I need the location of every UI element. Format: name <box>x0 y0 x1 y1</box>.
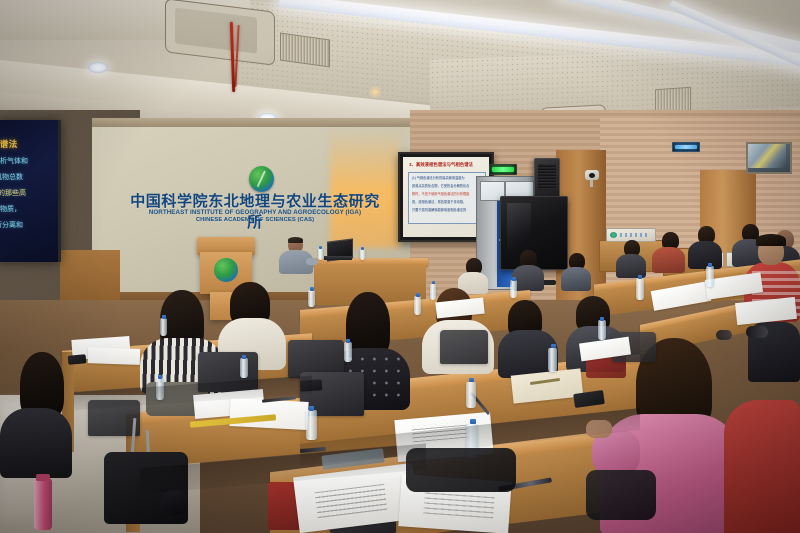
bottle-1[interactable] <box>160 318 167 336</box>
bottle-2[interactable] <box>240 358 248 378</box>
bottle-presenter[interactable] <box>318 248 323 260</box>
attendee-left-edge-body <box>0 408 72 478</box>
left-slide-title: 相色谱法 <box>0 138 18 150</box>
pink-water-bottle[interactable] <box>34 478 52 530</box>
attendee-pink-hoodie-glasses <box>716 330 732 340</box>
phone-1[interactable] <box>68 354 87 365</box>
wall-back-trim <box>92 118 422 127</box>
chair-5[interactable] <box>440 330 488 364</box>
left-projection-screen[interactable]: 相色谱法 于分析气体和 有机物总数 80%的那些高 大的物质， 进行分离和 <box>0 120 61 262</box>
institute-globe-logo <box>249 166 274 192</box>
paper-2[interactable] <box>88 347 141 365</box>
camera-mount <box>590 180 593 187</box>
attendee-body-far-5 <box>652 247 685 273</box>
attendee-right-glasses <box>746 326 768 338</box>
exit-sign-blue <box>672 142 700 152</box>
presenter-hair <box>288 237 303 243</box>
bottle-6[interactable] <box>466 382 476 408</box>
lecture-hall-photo: 相色谱法 于分析气体和 有机物总数 80%的那些高 大的物质， 进行分离和 中国… <box>0 0 800 533</box>
bottle-presenter-2[interactable] <box>360 249 365 260</box>
paper-7-text <box>423 490 495 519</box>
institute-name-english-line2: CHINESE ACADEMY OF SCIENCES (CAS) <box>128 217 382 223</box>
attendee-body-far-3 <box>561 267 591 291</box>
exit-sign-green <box>489 164 517 175</box>
right-slide-line-5: 只要于溶剂溶解就能够用液相色谱法的 <box>412 208 466 213</box>
bottle-12[interactable] <box>510 280 517 298</box>
podium-logo <box>214 258 238 282</box>
left-slide-line-2: 有机物总数 <box>0 172 23 182</box>
left-slide-line-5: 进行分离和 <box>0 220 23 230</box>
left-slide-line-1: 于分析气体和 <box>0 156 28 166</box>
pink-bottle-cap <box>36 474 50 481</box>
bottle-7[interactable] <box>306 410 317 440</box>
right-slide-line-1: (1) 气相色谱法分析的最高使用温度为 <box>412 176 465 181</box>
bottle-15[interactable] <box>598 320 606 340</box>
right-slide-line-4: 是。液相色谱法，样品需溶于流动相， <box>412 200 466 205</box>
attendee-red-jacket-body <box>724 400 800 533</box>
right-slide-body-box: (1) 气相色谱法分析的最高使用温度为 其沸点高的化合物，它受热会分解的化合 物… <box>408 172 486 224</box>
wall-camera <box>585 170 599 180</box>
wall-sconce-light <box>368 86 382 98</box>
bottle-13[interactable] <box>430 284 436 300</box>
downlight-1 <box>88 62 108 73</box>
framed-wall-picture <box>746 142 792 174</box>
bottle-5[interactable] <box>548 348 557 372</box>
bottle-9[interactable] <box>636 278 644 300</box>
water-dispenser-label <box>620 233 650 237</box>
attendee-right-hair <box>756 234 786 246</box>
backpack-side-pocket <box>160 490 188 516</box>
attendee-body-far-6 <box>688 241 722 269</box>
right-slide-line-2: 其沸点高的化合物，它受热会分解的化合 <box>412 184 469 189</box>
institute-name-english-line1: NORTHEAST INSTITUTE OF GEOGRAPHY AND AGR… <box>128 209 382 216</box>
water-dispenser-logo <box>610 232 617 238</box>
bottle-3[interactable] <box>308 290 315 307</box>
left-slide-line-3: 80%的那些高 <box>0 188 26 198</box>
presenter-arm <box>306 258 318 265</box>
bottle-10[interactable] <box>706 266 714 287</box>
bottle-11[interactable] <box>414 296 421 315</box>
bottle-14[interactable] <box>344 342 352 362</box>
right-slide-line-3: 物时，不宜于使用气相色谱法的分析限度 <box>412 192 469 197</box>
presenter-laptop-base[interactable] <box>324 256 352 260</box>
bag-under-desk-2[interactable] <box>586 470 656 520</box>
left-slide-line-4: 大的物质， <box>0 204 21 214</box>
right-slide-title: 3、高效液相色谱法与气相色谱法 <box>409 162 473 168</box>
